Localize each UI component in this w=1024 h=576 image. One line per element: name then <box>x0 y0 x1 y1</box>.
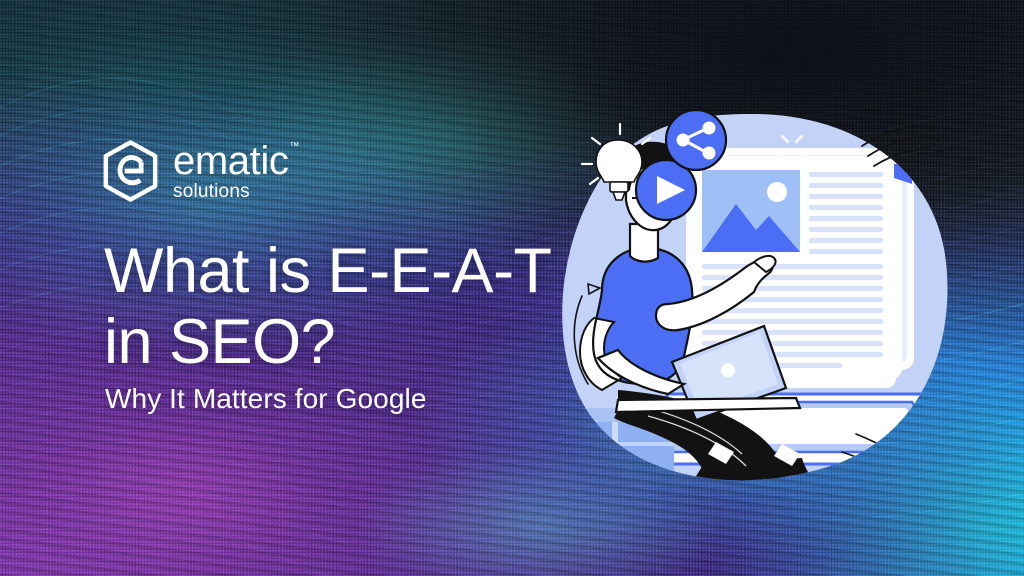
headline-line-1: What is E-E-A-T <box>104 236 552 307</box>
ematic-hexagon-e-icon <box>101 140 160 202</box>
banner-root: ematic ™ solutions What is E-E-A-T in SE… <box>0 0 1024 576</box>
hero-illustration <box>556 112 956 484</box>
trademark-symbol: ™ <box>289 141 299 152</box>
brand-wordmark: ematic ™ solutions <box>173 139 288 203</box>
page-subtitle: Why It Matters for Google <box>105 383 427 415</box>
image-placeholder <box>702 170 800 252</box>
brand-name: ematic <box>173 141 288 181</box>
headline-line-2: in SEO? <box>104 307 552 378</box>
brand-subtitle: solutions <box>173 182 288 203</box>
page-title: What is E-E-A-T in SEO? <box>104 236 552 377</box>
share-icon <box>666 110 726 170</box>
brand-logo[interactable]: ematic ™ solutions <box>101 139 288 203</box>
